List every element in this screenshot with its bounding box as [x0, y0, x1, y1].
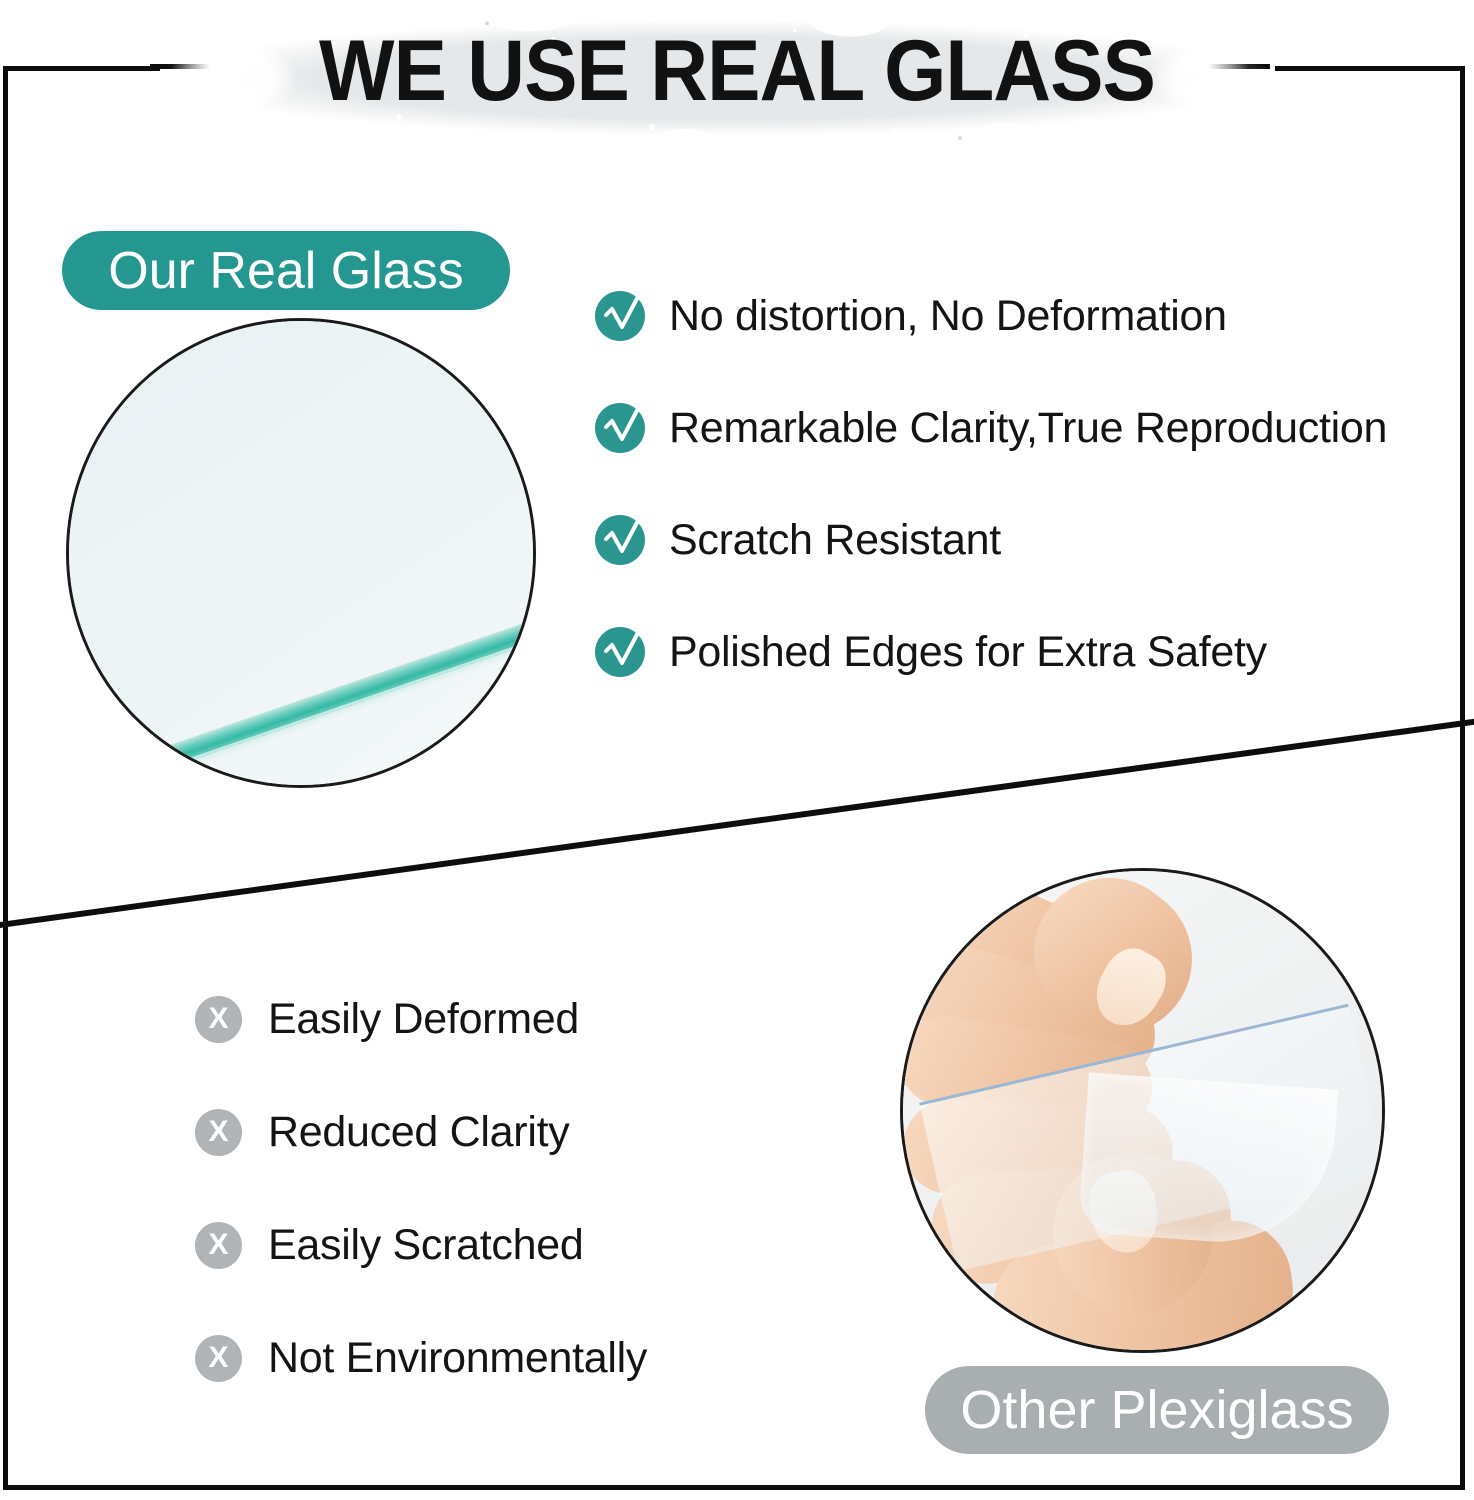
- list-item-label: Easily Scratched: [268, 1221, 583, 1270]
- list-item-label: Not Environmentally: [268, 1334, 647, 1383]
- check-icon: [595, 627, 645, 677]
- check-icon: [595, 291, 645, 341]
- x-icon: X: [195, 1222, 242, 1269]
- badge-other-plexiglass-label: Other Plexiglass: [960, 1379, 1353, 1441]
- check-icon: [595, 515, 645, 565]
- list-item-label: Polished Edges for Extra Safety: [669, 628, 1267, 677]
- list-item-label: No distortion, No Deformation: [669, 292, 1227, 341]
- x-icon: X: [195, 1109, 242, 1156]
- badge-our-real-glass: Our Real Glass: [62, 231, 510, 310]
- list-item-label: Reduced Clarity: [268, 1108, 569, 1157]
- x-icon: X: [195, 1335, 242, 1382]
- list-item: X Reduced Clarity: [195, 1109, 895, 1155]
- list-item: Polished Edges for Extra Safety: [595, 628, 1455, 676]
- list-item: X Easily Scratched: [195, 1222, 895, 1268]
- badge-other-plexiglass: Other Plexiglass: [925, 1366, 1389, 1454]
- page-title: WE USE REAL GLASS: [52, 28, 1423, 114]
- drawbacks-list: X Easily Deformed X Reduced Clarity X Ea…: [195, 996, 895, 1448]
- check-icon: [595, 403, 645, 453]
- list-item-label: Scratch Resistant: [669, 516, 1001, 565]
- list-item: Remarkable Clarity,True Reproduction: [595, 404, 1455, 452]
- advantages-list: No distortion, No Deformation Remarkable…: [595, 292, 1455, 740]
- list-item: No distortion, No Deformation: [595, 292, 1455, 340]
- badge-our-real-glass-label: Our Real Glass: [108, 241, 463, 301]
- plexiglass-photo: [900, 868, 1385, 1353]
- real-glass-photo: [66, 318, 536, 788]
- list-item: Scratch Resistant: [595, 516, 1455, 564]
- x-icon: X: [195, 996, 242, 1043]
- list-item-label: Remarkable Clarity,True Reproduction: [669, 404, 1387, 453]
- list-item: X Easily Deformed: [195, 996, 895, 1042]
- list-item-label: Easily Deformed: [268, 995, 579, 1044]
- list-item: X Not Environmentally: [195, 1335, 895, 1381]
